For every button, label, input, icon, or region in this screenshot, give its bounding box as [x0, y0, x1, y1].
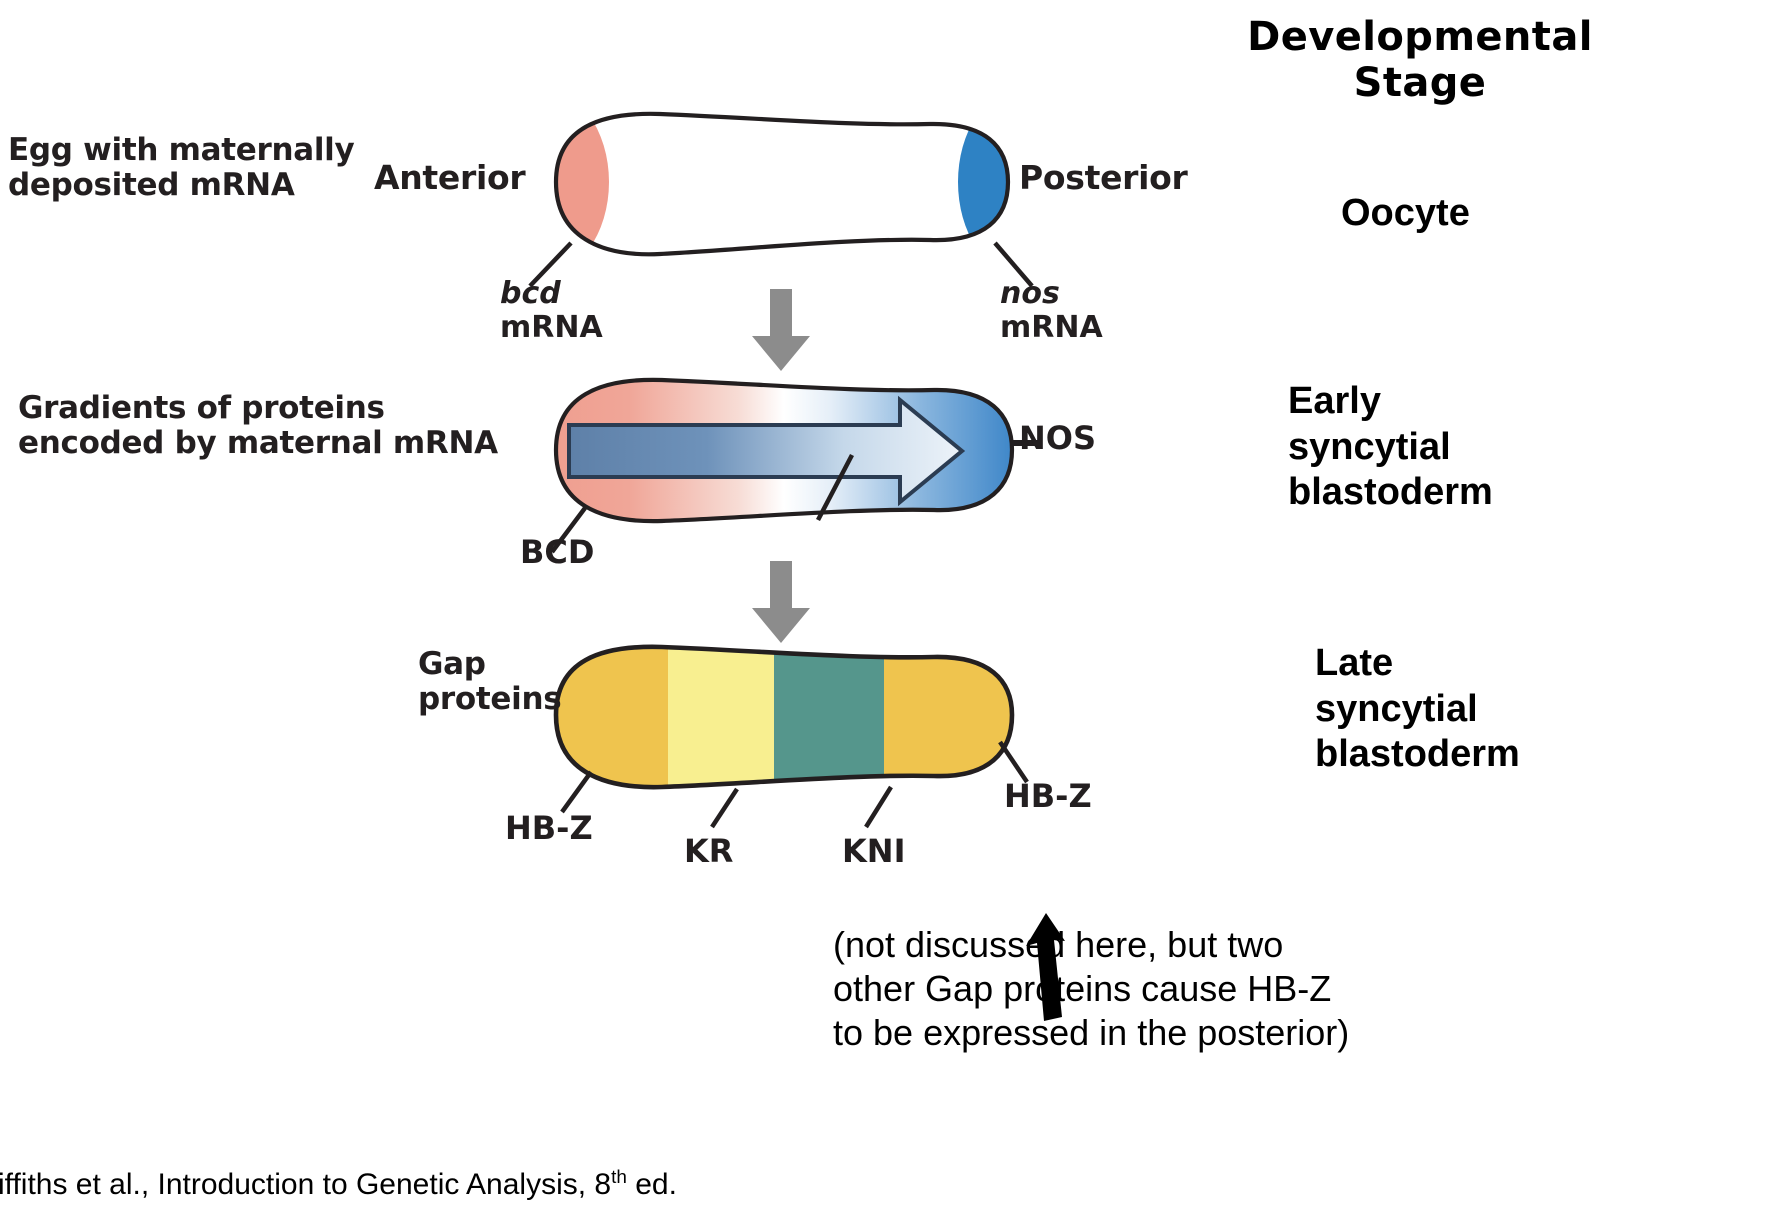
right-block-arrow-icon — [569, 400, 962, 502]
bcd-mrna-word: mRNA — [500, 311, 603, 345]
citation-suffix: ed. — [627, 1168, 677, 1201]
kni-leader-line — [866, 787, 891, 827]
nos-mrna-label: nos mRNA — [1000, 277, 1103, 345]
band-kni — [774, 630, 884, 810]
bcd-mrna-label: bcd mRNA — [500, 277, 603, 345]
nos-gene-name: nos — [1000, 277, 1103, 311]
figure-canvas: Egg with maternally deposited mRNA Anter… — [0, 0, 1784, 1208]
early-syncytial-blastoderm-shape — [556, 380, 1012, 521]
oocyte-egg-shape — [471, 87, 1082, 277]
bcd-gene-name: bcd — [500, 277, 603, 311]
hbz-right-leader-line — [1000, 742, 1027, 782]
band-kr — [668, 630, 774, 810]
nos-protein-label: NOS — [1019, 419, 1096, 457]
citation-prefix: riffiths et al., Introduction to Genetic… — [0, 1168, 611, 1201]
kr-label: KR — [684, 832, 733, 870]
bcd-protein-label: BCD — [520, 533, 594, 571]
gap-proteins-description-label: Gap proteins — [418, 647, 588, 716]
late-syncytial-blastoderm-shape — [540, 630, 1034, 810]
annotation-line-1: (not discussed here, but two — [833, 923, 1533, 967]
hbz-posterior-label: HB-Z — [1004, 777, 1092, 815]
posterior-label: Posterior — [1019, 158, 1188, 197]
stage-label-late-syncytial-blastoderm: Late syncytial blastoderm — [1315, 641, 1520, 778]
hbz-posterior-annotation: (not discussed here, but two other Gap p… — [833, 923, 1533, 1055]
anterior-label: Anterior — [374, 158, 525, 197]
dev-stage-header-line2: Stage — [1210, 60, 1630, 106]
kni-label: KNI — [842, 832, 905, 870]
down-arrow-icon-1 — [752, 289, 810, 371]
annotation-line-3: to be expressed in the posterior) — [833, 1011, 1533, 1055]
stage-label-early-syncytial-blastoderm: Early syncytial blastoderm — [1288, 379, 1493, 516]
kr-leader-line — [712, 789, 737, 827]
hbz-left-leader-line — [562, 772, 591, 812]
source-citation: riffiths et al., Introduction to Genetic… — [0, 1167, 677, 1202]
stage-label-oocyte: Oocyte — [1341, 191, 1470, 237]
hbz-anterior-label: HB-Z — [505, 809, 593, 847]
citation-ordinal: th — [611, 1167, 627, 1188]
nos-mrna-word: mRNA — [1000, 311, 1103, 345]
developmental-stage-header: Developmental Stage — [1210, 14, 1630, 107]
down-arrow-icon-2 — [752, 561, 810, 643]
dev-stage-header-line1: Developmental — [1210, 14, 1630, 60]
egg-description-label: Egg with maternally deposited mRNA — [8, 133, 378, 202]
annotation-line-2: other Gap proteins cause HB-Z — [833, 967, 1533, 1011]
nos-protein-leader-line — [818, 455, 852, 520]
gradients-description-label: Gradients of proteins encoded by materna… — [18, 391, 538, 460]
